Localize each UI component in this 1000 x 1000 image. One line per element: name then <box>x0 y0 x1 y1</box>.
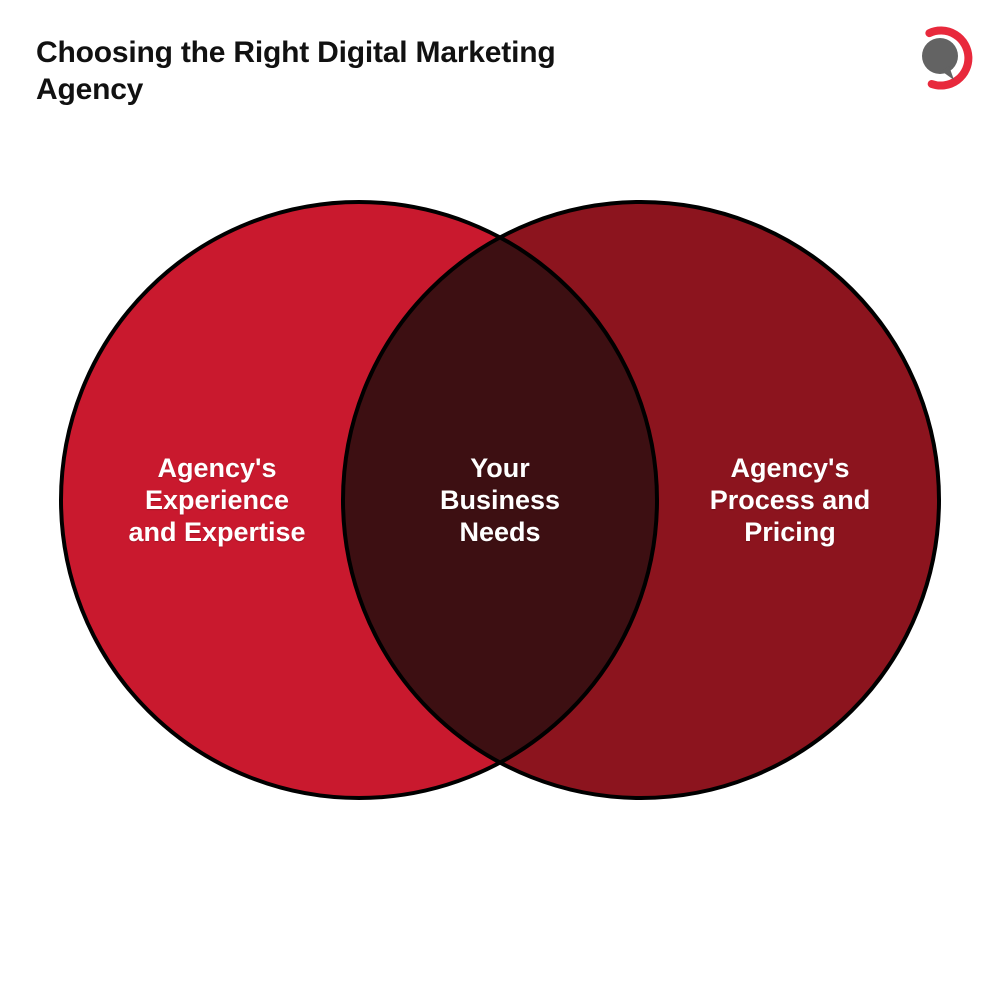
venn-label-right: Agency's Process and Pricing <box>665 452 915 548</box>
diagram-canvas: Choosing the Right Digital Marketing Age… <box>0 0 1000 1000</box>
venn-label-left: Agency's Experience and Expertise <box>92 452 342 548</box>
page-title: Choosing the Right Digital Marketing Age… <box>36 34 676 108</box>
logo-speech-bubble-icon <box>922 38 958 80</box>
brand-logo[interactable] <box>909 26 973 90</box>
venn-label-intersection: Your Business Needs <box>405 452 595 548</box>
